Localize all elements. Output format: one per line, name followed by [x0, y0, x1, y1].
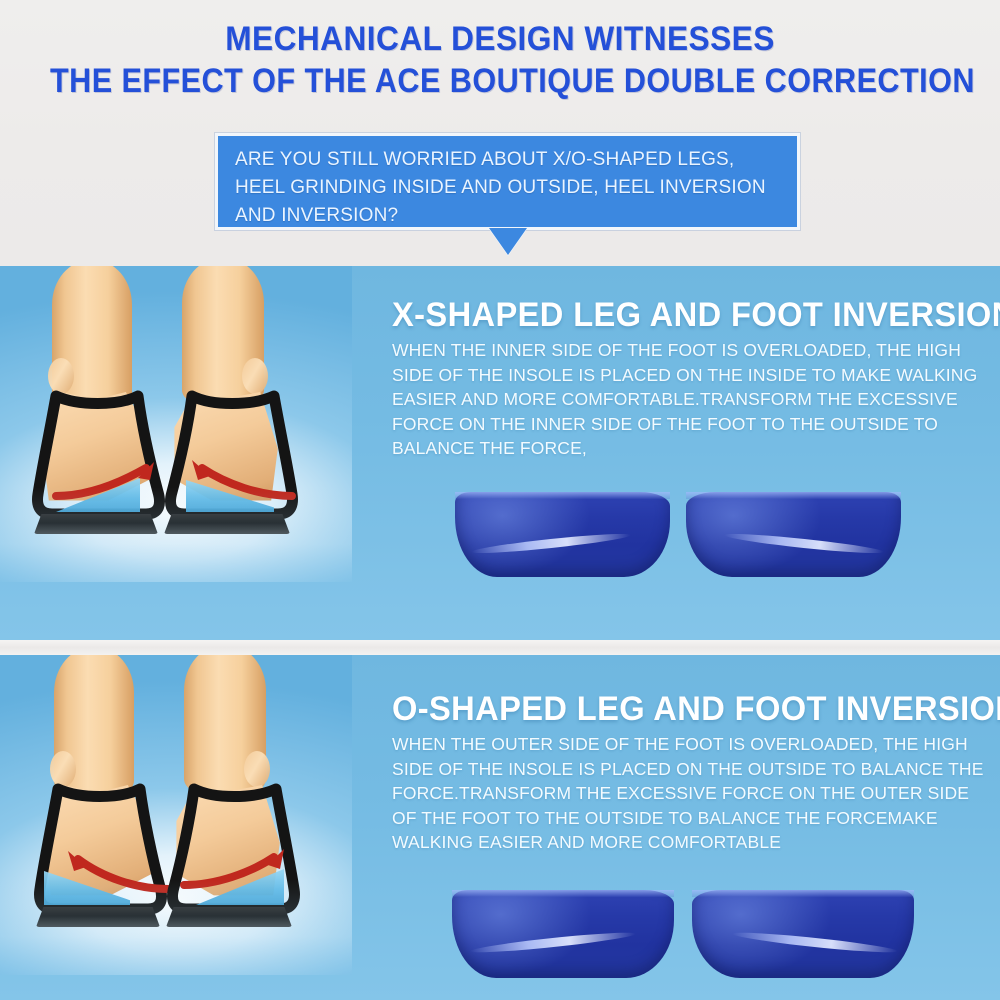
right-sole — [166, 907, 292, 927]
title-line-2: THE EFFECT OF THE ACE BOUTIQUE DOUBLE CO… — [50, 64, 950, 98]
insole-left-x — [455, 492, 670, 577]
product-insoles-x-shaped — [455, 492, 901, 577]
right-sole — [164, 514, 290, 534]
left-ankle-knob — [48, 358, 74, 394]
page-title: MECHANICAL DESIGN WITNESSES THE EFFECT O… — [0, 22, 1000, 98]
insole-highlight — [732, 929, 898, 955]
illustration-o-shaped-legs — [0, 655, 352, 975]
left-sole — [36, 907, 160, 927]
insole-rim — [452, 890, 674, 897]
body-x-shaped: WHEN THE INNER SIDE OF THE FOOT IS OVERL… — [392, 338, 992, 461]
right-force-arrow-icon — [178, 456, 298, 504]
text-block-o-shaped: O-SHAPED LEG AND FOOT INVERSION WHEN THE… — [392, 690, 992, 855]
product-insoles-o-shaped — [452, 890, 914, 978]
left-force-arrow-icon — [50, 458, 170, 506]
insole-highlight — [471, 531, 631, 557]
left-force-arrow-icon — [56, 847, 176, 895]
insole-rim — [455, 492, 670, 499]
right-ankle-knob — [244, 751, 270, 787]
body-o-shaped: WHEN THE OUTER SIDE OF THE FOOT IS OVERL… — [392, 732, 992, 855]
left-ankle-knob — [50, 751, 76, 787]
left-sole — [34, 514, 158, 534]
panel-divider — [0, 640, 1000, 655]
right-ankle-knob — [242, 358, 268, 394]
illustration-x-shaped-legs — [0, 266, 352, 582]
insole-rim — [686, 492, 901, 499]
headline-o-shaped: O-SHAPED LEG AND FOOT INVERSION — [392, 690, 968, 728]
product-infographic: MECHANICAL DESIGN WITNESSES THE EFFECT O… — [0, 0, 1000, 1000]
insole-highlight — [724, 531, 884, 557]
headline-x-shaped: X-SHAPED LEG AND FOOT INVERSION — [392, 296, 968, 334]
question-callout: ARE YOU STILL WORRIED ABOUT X/O-SHAPED L… — [215, 133, 800, 230]
insole-rim — [692, 890, 914, 897]
callout-text: ARE YOU STILL WORRIED ABOUT X/O-SHAPED L… — [235, 146, 787, 230]
insole-right-x — [686, 492, 901, 577]
callout-pointer-icon — [489, 228, 527, 255]
right-force-arrow-icon — [176, 845, 296, 893]
text-block-x-shaped: X-SHAPED LEG AND FOOT INVERSION WHEN THE… — [392, 296, 992, 461]
insole-left-o — [452, 890, 674, 978]
insole-right-o — [692, 890, 914, 978]
insole-highlight — [470, 929, 636, 955]
title-line-1: MECHANICAL DESIGN WITNESSES — [35, 22, 965, 56]
header-banner: MECHANICAL DESIGN WITNESSES THE EFFECT O… — [0, 0, 1000, 266]
